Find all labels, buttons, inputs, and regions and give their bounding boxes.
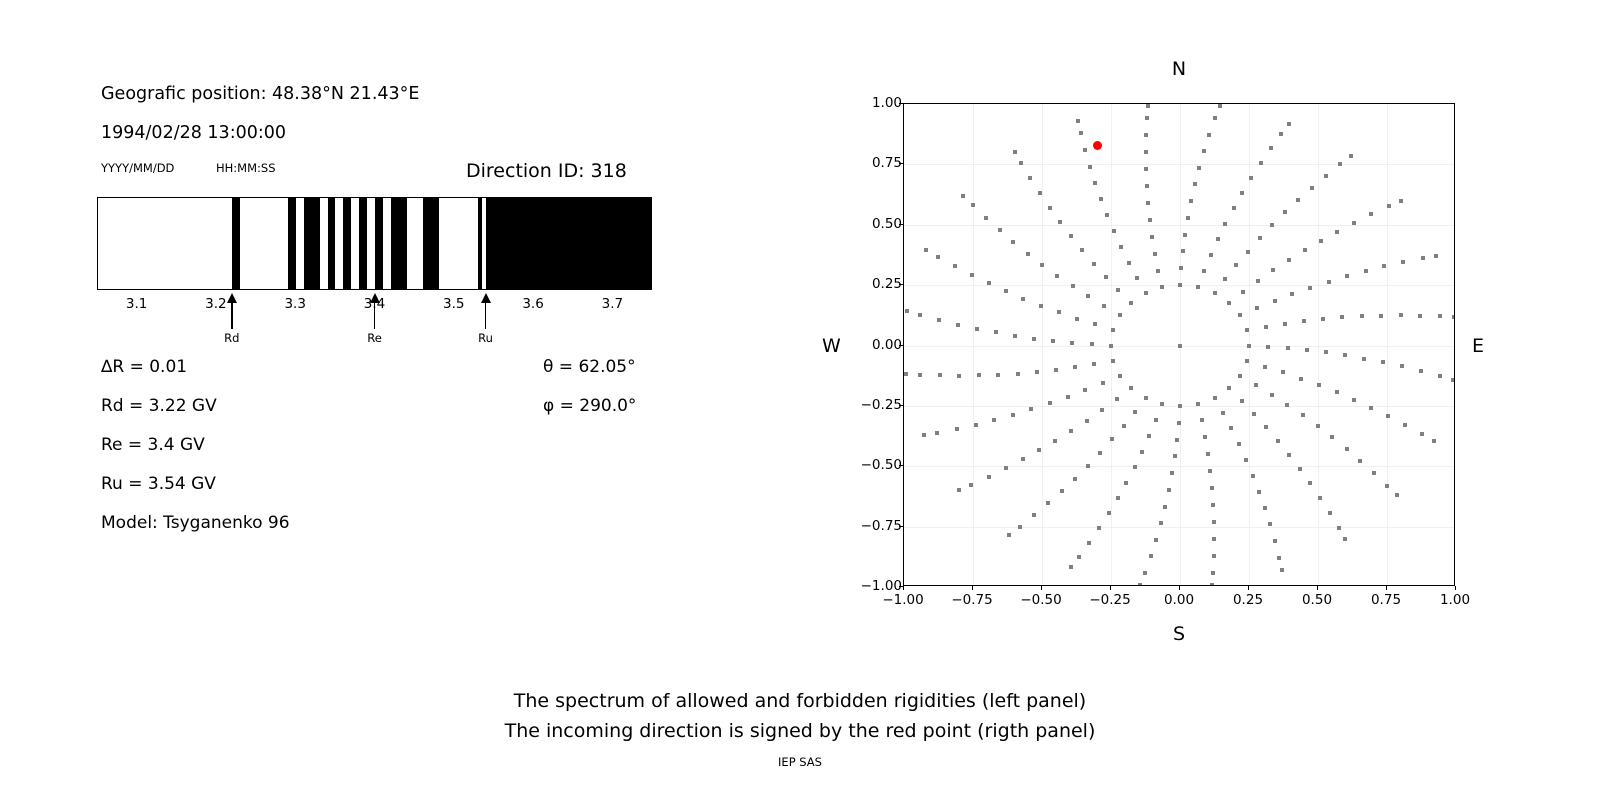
direction-point — [1073, 477, 1077, 481]
direction-point — [1075, 317, 1079, 321]
direction-point — [1197, 166, 1201, 170]
direction-point — [1382, 264, 1386, 268]
y-tick-label: 0.75 — [872, 155, 902, 171]
direction-point — [1124, 481, 1128, 485]
direction-point — [955, 427, 959, 431]
direction-point — [1352, 221, 1356, 225]
direction-point — [1111, 328, 1115, 332]
spectrum-x-tick-label: 3.3 — [284, 296, 305, 312]
direction-point — [1338, 162, 1342, 166]
direction-point — [1303, 248, 1307, 252]
direction-point — [1153, 252, 1157, 256]
direction-point — [1285, 403, 1289, 407]
direction-point — [1349, 154, 1353, 158]
direction-point — [1181, 249, 1185, 253]
direction-point — [1177, 421, 1181, 425]
direction-point — [1401, 260, 1405, 264]
direction-point — [1107, 511, 1111, 515]
direction-point — [1438, 314, 1442, 318]
x-tick-mark — [1041, 586, 1042, 590]
direction-point — [1211, 503, 1215, 507]
direction-point — [1079, 131, 1083, 135]
direction-point — [1160, 402, 1164, 406]
direction-point — [1287, 122, 1291, 126]
compass-label-east: E — [1472, 335, 1484, 357]
direction-point — [1264, 325, 1268, 329]
direction-point — [1189, 199, 1193, 203]
direction-point — [1245, 359, 1249, 363]
direction-point — [1259, 161, 1263, 165]
direction-point — [1093, 181, 1097, 185]
direction-point — [1207, 133, 1211, 137]
direction-point-center — [1178, 344, 1182, 348]
direction-point — [1200, 418, 1204, 422]
gridline-horizontal — [904, 225, 1454, 226]
x-tick-label: −0.25 — [1089, 592, 1130, 608]
direction-point — [1229, 426, 1233, 430]
direction-point — [1452, 315, 1455, 319]
direction-point — [1270, 393, 1274, 397]
direction-point — [1232, 206, 1236, 210]
x-tick-label: 0.75 — [1371, 592, 1401, 608]
marker-ru: Ru — [466, 293, 506, 349]
direction-point — [970, 273, 974, 277]
direction-point — [1099, 197, 1103, 201]
param-ru: Ru = 3.54 GV — [101, 474, 216, 494]
direction-point — [1290, 292, 1294, 296]
direction-point — [1111, 359, 1115, 363]
direction-point — [1100, 408, 1104, 412]
direction-point — [1163, 505, 1167, 509]
forbidden-band — [343, 198, 351, 289]
direction-point — [1273, 539, 1277, 543]
direction-point — [918, 313, 922, 317]
direction-point — [1451, 378, 1455, 382]
direction-point — [957, 374, 961, 378]
gridline-vertical — [973, 104, 974, 585]
direction-point — [1246, 250, 1250, 254]
direction-point — [1160, 285, 1164, 289]
forbidden-band — [232, 198, 240, 289]
direction-point — [1343, 537, 1347, 541]
date-format-hint: YYYY/MM/DD — [101, 161, 174, 175]
direction-point — [1203, 435, 1207, 439]
direction-point — [1039, 304, 1043, 308]
incoming-direction-marker — [1093, 141, 1102, 150]
direction-point — [1133, 410, 1137, 414]
direction-point — [977, 373, 981, 377]
gridline-horizontal — [904, 164, 1454, 165]
direction-point — [1057, 310, 1061, 314]
direction-point — [1021, 297, 1025, 301]
marker-re: Re — [355, 293, 395, 349]
marker-label: Ru — [478, 331, 493, 345]
direction-point — [994, 330, 998, 334]
direction-point — [1069, 234, 1073, 238]
direction-point — [1144, 167, 1148, 171]
direction-point — [1147, 434, 1151, 438]
direction-point — [1223, 277, 1227, 281]
direction-point — [1218, 104, 1222, 108]
direction-point — [1245, 328, 1249, 332]
x-tick-mark — [972, 586, 973, 590]
direction-point — [1403, 423, 1407, 427]
direction-point — [1302, 319, 1306, 323]
direction-point — [1238, 374, 1242, 378]
direction-point — [1109, 344, 1113, 348]
direction-point — [975, 327, 979, 331]
param-theta: θ = 62.05° — [543, 357, 636, 377]
direction-point — [1419, 369, 1423, 373]
forbidden-band — [375, 198, 383, 289]
direction-point — [924, 248, 928, 252]
direction-point — [1213, 116, 1217, 120]
direction-point — [1116, 496, 1120, 500]
direction-point — [1080, 248, 1084, 252]
direction-point — [1209, 253, 1213, 257]
direction-point — [1007, 533, 1011, 537]
direction-point — [1070, 341, 1074, 345]
direction-point — [1118, 313, 1122, 317]
direction-point — [1256, 279, 1260, 283]
direction-point — [1127, 261, 1131, 265]
direction-point — [1146, 201, 1150, 205]
x-tick-label: −0.75 — [951, 592, 992, 608]
direction-point — [1271, 268, 1275, 272]
direction-point — [1212, 537, 1216, 541]
direction-point — [1011, 413, 1015, 417]
gridline-vertical — [1318, 104, 1319, 585]
direction-point — [1337, 526, 1341, 530]
direction-point — [1263, 506, 1267, 510]
direction-point — [1104, 275, 1108, 279]
direction-point — [1238, 313, 1242, 317]
direction-point — [1053, 439, 1057, 443]
direction-point — [1283, 210, 1287, 214]
direction-point — [1167, 488, 1171, 492]
direction-point — [1270, 223, 1274, 227]
direction-point — [1328, 511, 1332, 515]
direction-point — [1258, 236, 1262, 240]
footer-credit: IEP SAS — [0, 755, 1600, 769]
direction-point — [1263, 365, 1267, 369]
time-format-hint: HH:MM:SS — [216, 161, 276, 175]
gridline-vertical — [1042, 104, 1043, 585]
direction-point — [1143, 571, 1147, 575]
forbidden-band — [304, 198, 320, 289]
direction-point — [1352, 398, 1356, 402]
direction-point — [1058, 220, 1062, 224]
direction-point — [1029, 407, 1033, 411]
arrow-shaft — [231, 301, 233, 329]
direction-point — [1085, 419, 1089, 423]
direction-point — [1257, 490, 1261, 494]
direction-point — [1086, 464, 1090, 468]
direction-point — [1145, 184, 1149, 188]
direction-point — [1037, 448, 1041, 452]
direction-point — [1149, 554, 1153, 558]
spectrum-x-tick-label: 3.6 — [522, 296, 543, 312]
gridline-horizontal — [904, 466, 1454, 467]
param-phi: φ = 290.0° — [543, 396, 636, 416]
direction-point — [1386, 414, 1390, 418]
direction-point — [1055, 274, 1059, 278]
direction-point — [1004, 289, 1008, 293]
forbidden-band — [391, 198, 407, 289]
direction-point — [1178, 283, 1182, 287]
x-tick-mark — [1455, 586, 1456, 590]
direction-point — [1223, 222, 1227, 226]
spectrum-x-tick-label: 3.5 — [443, 296, 464, 312]
direction-point — [1088, 165, 1092, 169]
forbidden-band — [288, 198, 296, 289]
direction-point — [1087, 541, 1091, 545]
datetime-label: 1994/02/28 13:00:00 — [101, 123, 286, 143]
direction-point — [974, 423, 978, 427]
direction-point — [1264, 425, 1268, 429]
direction-point — [1343, 353, 1347, 357]
forbidden-band — [359, 198, 367, 289]
direction-point — [1308, 481, 1312, 485]
direction-point — [1277, 556, 1281, 560]
direction-point — [1038, 191, 1042, 195]
compass-label-south: S — [1173, 623, 1185, 645]
direction-point — [1434, 254, 1438, 258]
direction-point — [1212, 554, 1216, 558]
direction-point — [1379, 314, 1383, 318]
direction-point — [1283, 322, 1287, 326]
gridline-vertical — [1387, 104, 1388, 585]
y-tick-label: 0.25 — [872, 276, 902, 292]
direction-point — [1156, 269, 1160, 273]
direction-point — [1129, 301, 1133, 305]
direction-point — [1175, 438, 1179, 442]
direction-point — [1268, 522, 1272, 526]
direction-point — [918, 373, 922, 377]
y-tick-label: 0.00 — [872, 337, 902, 353]
direction-point — [1013, 334, 1017, 338]
direction-point — [1092, 262, 1096, 266]
direction-point — [1035, 370, 1039, 374]
geographic-position-label: Geografic position: 48.38°N 21.43°E — [101, 84, 419, 104]
direction-point — [1211, 571, 1215, 575]
direction-point — [1279, 132, 1283, 136]
direction-point — [1249, 176, 1253, 180]
direction-point — [1244, 458, 1248, 462]
direction-point — [1051, 339, 1055, 343]
direction-point — [936, 255, 940, 259]
direction-point — [922, 433, 926, 437]
marker-label: Re — [367, 331, 382, 345]
forbidden-band — [328, 198, 336, 289]
y-tick-label: 0.50 — [872, 216, 902, 232]
direction-point — [1013, 150, 1017, 154]
direction-point — [1102, 304, 1106, 308]
direction-point — [957, 488, 961, 492]
direction-point — [1098, 451, 1102, 455]
direction-point — [1073, 365, 1077, 369]
direction-map-panel: N S W E −1.00−0.75−0.50−0.250.000.250.50… — [760, 0, 1600, 660]
x-tick-label: 0.25 — [1233, 592, 1263, 608]
direction-point — [1032, 513, 1036, 517]
x-tick-mark — [1179, 586, 1180, 590]
direction-point — [1135, 276, 1139, 280]
direction-point — [1115, 397, 1119, 401]
direction-point — [1317, 383, 1321, 387]
direction-point — [1319, 239, 1323, 243]
param-rd: Rd = 3.22 GV — [101, 396, 217, 416]
direction-point — [1360, 314, 1364, 318]
direction-point — [1016, 372, 1020, 376]
polar-scatter-plot — [903, 103, 1455, 586]
x-tick-mark — [1110, 586, 1111, 590]
direction-point — [1369, 212, 1373, 216]
arrow-shaft — [485, 301, 487, 329]
direction-point — [1216, 237, 1220, 241]
spectrum-x-tick-label: 3.7 — [602, 296, 623, 312]
direction-point — [1054, 368, 1058, 372]
direction-point — [1159, 521, 1163, 525]
direction-point — [1280, 568, 1284, 572]
direction-point — [956, 323, 960, 327]
y-tick-label: −0.50 — [861, 457, 902, 473]
x-tick-label: −1.00 — [882, 592, 923, 608]
figure-caption: The spectrum of allowed and forbidden ri… — [0, 686, 1600, 746]
direction-point — [1092, 362, 1096, 366]
direction-point — [1335, 230, 1339, 234]
direction-point — [1296, 198, 1300, 202]
direction-point — [1438, 374, 1442, 378]
direction-point — [1421, 256, 1425, 260]
direction-point — [1179, 266, 1183, 270]
direction-point — [905, 309, 909, 313]
direction-point — [1144, 150, 1148, 154]
direction-point — [1028, 176, 1032, 180]
direction-point — [1345, 274, 1349, 278]
direction-point — [1146, 104, 1150, 108]
forbidden-band — [486, 198, 652, 289]
direction-point — [1032, 337, 1036, 341]
direction-point — [1418, 314, 1422, 318]
direction-point — [1040, 263, 1044, 267]
direction-point — [1254, 383, 1258, 387]
direction-point — [1395, 493, 1399, 497]
direction-point — [1178, 404, 1182, 408]
direction-point — [1276, 439, 1280, 443]
direction-point — [1299, 377, 1303, 381]
direction-point — [1324, 174, 1328, 178]
direction-point — [1069, 429, 1073, 433]
forbidden-band — [478, 198, 482, 289]
direction-point — [1241, 290, 1245, 294]
direction-point — [1144, 133, 1148, 137]
caption-line-1: The spectrum of allowed and forbidden ri… — [0, 686, 1600, 716]
marker-label: Rd — [224, 331, 239, 345]
direction-point — [992, 418, 996, 422]
direction-point — [1066, 395, 1070, 399]
direction-point — [1048, 401, 1052, 405]
direction-point — [1069, 565, 1073, 569]
direction-point — [1212, 520, 1216, 524]
direction-point — [1021, 457, 1025, 461]
direction-point — [1011, 240, 1015, 244]
direction-point — [1247, 344, 1251, 348]
direction-point — [1335, 390, 1339, 394]
direction-point — [1281, 370, 1285, 374]
direction-point — [1122, 424, 1126, 428]
direction-point — [1252, 412, 1256, 416]
direction-point — [1364, 269, 1368, 273]
direction-point — [1237, 442, 1241, 446]
forbidden-band — [423, 198, 439, 289]
direction-point — [1110, 437, 1114, 441]
direction-point — [1112, 229, 1116, 233]
direction-point — [1221, 411, 1225, 415]
direction-point — [1305, 348, 1309, 352]
direction-point — [1101, 381, 1105, 385]
direction-point — [1018, 525, 1022, 529]
direction-point — [1432, 439, 1436, 443]
direction-point — [1399, 199, 1403, 203]
direction-point — [1105, 213, 1109, 217]
x-tick-label: 0.00 — [1164, 592, 1194, 608]
y-tick-label: 1.00 — [872, 95, 902, 111]
param-re: Re = 3.4 GV — [101, 435, 205, 455]
direction-point — [1210, 486, 1214, 490]
direction-point — [1093, 322, 1097, 326]
direction-point — [1083, 148, 1087, 152]
direction-point — [1369, 406, 1373, 410]
direction-point — [1076, 119, 1080, 123]
direction-point — [1144, 291, 1148, 295]
direction-point — [1210, 583, 1214, 586]
direction-point — [1251, 474, 1255, 478]
direction-point — [1327, 280, 1331, 284]
direction-point — [1298, 467, 1302, 471]
direction-point — [1387, 204, 1391, 208]
direction-point — [1301, 413, 1305, 417]
direction-point — [1186, 216, 1190, 220]
direction-point — [1004, 466, 1008, 470]
direction-point — [1077, 555, 1081, 559]
direction-point — [1154, 418, 1158, 422]
rigidity-spectrum-barcode — [97, 197, 652, 290]
direction-point — [1273, 299, 1277, 303]
direction-point — [1144, 396, 1148, 400]
direction-point — [961, 194, 965, 198]
direction-point — [1026, 252, 1030, 256]
direction-point — [1083, 388, 1087, 392]
direction-point — [1202, 149, 1206, 153]
direction-point — [1119, 245, 1123, 249]
direction-point — [1318, 496, 1322, 500]
direction-point — [953, 264, 957, 268]
direction-point — [1129, 386, 1133, 390]
x-tick-label: 1.00 — [1440, 592, 1470, 608]
direction-point — [1118, 374, 1122, 378]
direction-point — [1154, 538, 1158, 542]
direction-point — [1240, 399, 1244, 403]
direction-point — [1372, 471, 1376, 475]
direction-point — [1116, 288, 1120, 292]
direction-point — [1090, 342, 1094, 346]
direction-point — [1345, 447, 1349, 451]
direction-point — [1086, 294, 1090, 298]
direction-point — [1183, 233, 1187, 237]
direction-point — [1046, 501, 1050, 505]
direction-point — [1019, 161, 1023, 165]
direction-point — [935, 431, 939, 435]
